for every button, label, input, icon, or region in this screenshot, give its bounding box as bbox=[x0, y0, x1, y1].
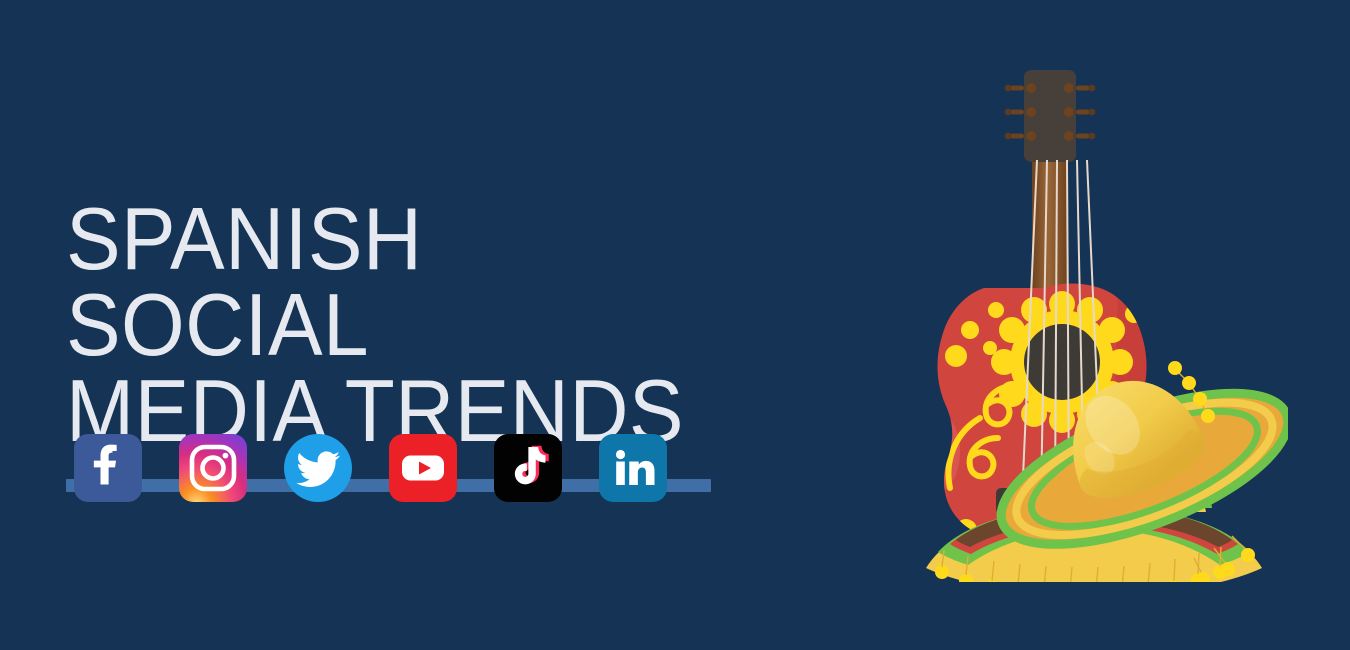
facebook-icon[interactable] bbox=[74, 434, 142, 502]
guitar-soundhole bbox=[1024, 324, 1100, 400]
youtube-icon[interactable] bbox=[389, 434, 457, 502]
tiktok-icon[interactable] bbox=[494, 434, 562, 502]
twitter-icon[interactable] bbox=[284, 434, 352, 502]
social-icon-row bbox=[74, 434, 667, 502]
guitar-headstock bbox=[1005, 70, 1096, 162]
promo-banner: SPANISH SOCIAL MEDIA TRENDS bbox=[0, 0, 1350, 650]
instagram-icon[interactable] bbox=[179, 434, 247, 502]
linkedin-icon[interactable] bbox=[599, 434, 667, 502]
page-title: SPANISH SOCIAL MEDIA TRENDS bbox=[66, 196, 717, 455]
mexican-guitar-and-sombreros-illustration bbox=[838, 52, 1288, 582]
